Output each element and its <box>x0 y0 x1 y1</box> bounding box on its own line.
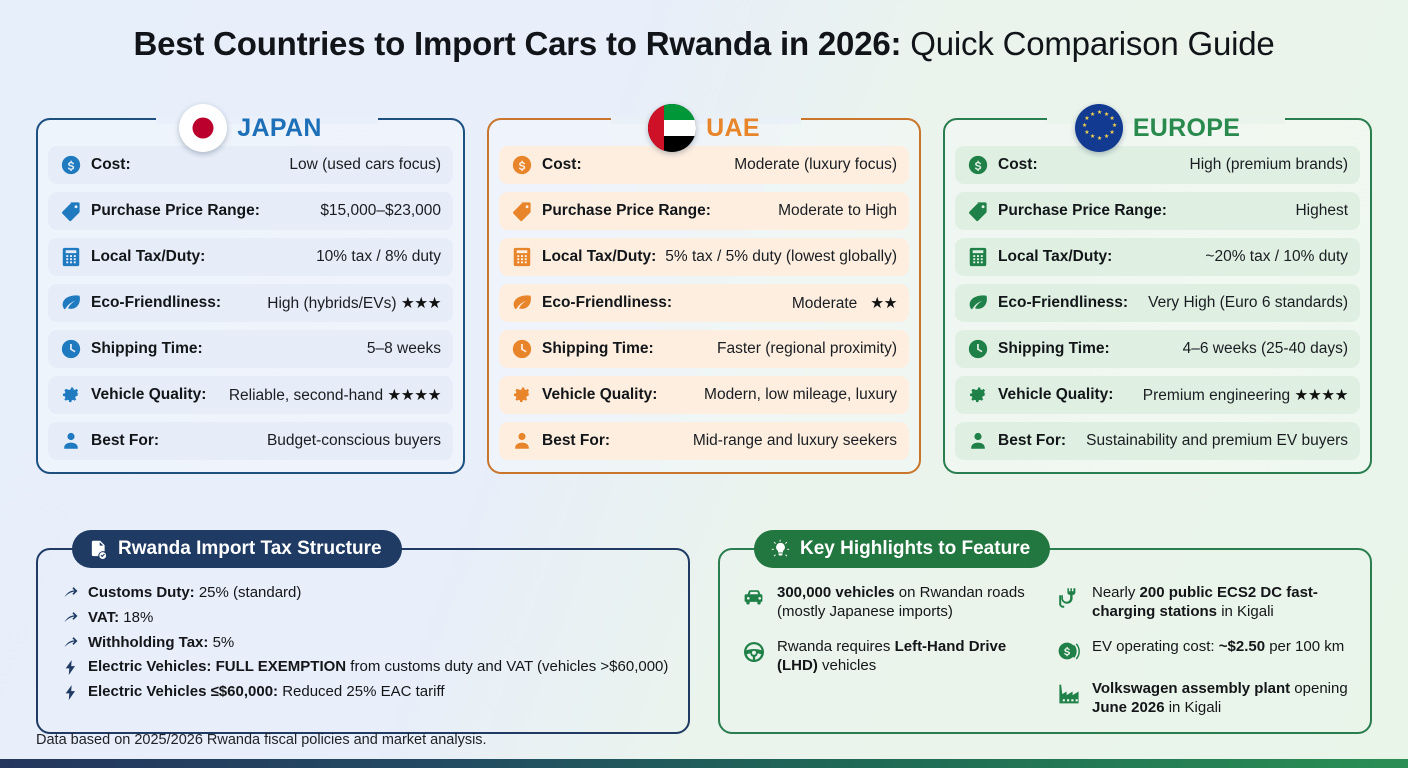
gear-icon <box>967 384 989 406</box>
row-label: Shipping Time: <box>91 340 203 358</box>
factory-icon <box>1057 682 1081 706</box>
country-column-uae: UAE Cost: Moderate (luxury focus) Purcha… <box>487 118 921 474</box>
row-value: Very High (Euro 6 standards) <box>1148 294 1348 312</box>
country-comparison-columns: JAPAN Cost: Low (used cars focus) Purcha… <box>0 118 1408 474</box>
key-panel-title: Key Highlights to Feature <box>800 538 1030 560</box>
leaf-icon <box>967 292 989 314</box>
table-row: Eco-Friendliness: Moderate ★★ <box>499 284 909 322</box>
list-item: Volkswagen assembly plant opening June 2… <box>1057 680 1354 718</box>
page-title: Best Countries to Import Cars to Rwanda … <box>0 26 1408 62</box>
row-value: Moderate (luxury focus) <box>734 156 897 174</box>
table-row: Eco-Friendliness: Very High (Euro 6 stan… <box>955 284 1360 322</box>
row-value: $15,000–$23,000 <box>320 202 441 220</box>
row-label: Best For: <box>91 432 159 450</box>
footer-note: Data based on 2025/2026 Rwanda fiscal po… <box>36 732 487 748</box>
tax-panel-title: Rwanda Import Tax Structure <box>118 538 382 560</box>
calculator-icon <box>60 246 82 268</box>
list-item: Electric Vehicles ≤$60,000: Reduced 25% … <box>62 683 672 702</box>
row-value: 5% tax / 5% duty (lowest globally) <box>665 248 897 266</box>
row-value: Highest <box>1295 202 1348 220</box>
row-label: Eco-Friendliness: <box>91 294 221 312</box>
list-item-text: Customs Duty: 25% (standard) <box>88 584 301 603</box>
row-label: Local Tax/Duty: <box>91 248 205 266</box>
row-value: Faster (regional proximity) <box>717 340 897 358</box>
arrow-icon <box>62 635 79 652</box>
europe-flag-icon: ★ ★ ★ ★ ★ ★ ★ ★ ★ ★ ★ ★ <box>1075 104 1123 152</box>
page-title-light: Quick Comparison Guide <box>901 25 1274 62</box>
table-row: Local Tax/Duty: ~20% tax / 10% duty <box>955 238 1360 276</box>
list-item-text: Volkswagen assembly plant opening June 2… <box>1092 680 1354 718</box>
key-highlights-left-column: 300,000 vehicles on Rwandan roads (mostl… <box>742 584 1039 718</box>
row-label: Purchase Price Range: <box>91 202 260 220</box>
price-tag-icon <box>967 200 989 222</box>
table-row: Shipping Time: 4–6 weeks (25-40 days) <box>955 330 1360 368</box>
row-label: Best For: <box>998 432 1066 450</box>
list-item-text: 300,000 vehicles on Rwandan roads (mostl… <box>777 584 1039 622</box>
list-item-text: Rwanda requires Left-Hand Drive (LHD) ve… <box>777 638 1039 676</box>
list-item-text: Electric Vehicles: FULL EXEMPTION from c… <box>88 658 668 677</box>
person-icon <box>60 430 82 452</box>
calculator-icon <box>967 246 989 268</box>
person-icon <box>511 430 533 452</box>
uae-flag-icon <box>648 104 696 152</box>
arrow-icon <box>62 610 79 627</box>
row-label: Local Tax/Duty: <box>542 248 656 266</box>
list-item-text: Nearly 200 public ECS2 DC fast-charging … <box>1092 584 1354 622</box>
ev-plug-icon <box>1057 586 1081 610</box>
table-row: Shipping Time: 5–8 weeks <box>48 330 453 368</box>
table-row: Shipping Time: Faster (regional proximit… <box>499 330 909 368</box>
country-column-europe: ★ ★ ★ ★ ★ ★ ★ ★ ★ ★ ★ ★ EUROPE <box>943 118 1372 474</box>
table-row: Purchase Price Range: Moderate to High <box>499 192 909 230</box>
key-panel-title-badge: Key Highlights to Feature <box>754 530 1050 568</box>
table-row: Best For: Budget-conscious buyers <box>48 422 453 460</box>
rwanda-tax-structure-panel: Rwanda Import Tax Structure Customs Duty… <box>36 548 690 734</box>
row-label: Vehicle Quality: <box>91 386 206 404</box>
list-item: Electric Vehicles: FULL EXEMPTION from c… <box>62 658 672 677</box>
page-title-bold: Best Countries to Import Cars to Rwanda … <box>133 25 901 62</box>
row-label: Vehicle Quality: <box>542 386 657 404</box>
list-item-text: EV operating cost: ~$2.50 per 100 km <box>1092 638 1344 657</box>
list-item: Customs Duty: 25% (standard) <box>62 584 672 603</box>
star-rating: ★★★ <box>401 295 441 312</box>
country-name-europe: EUROPE <box>1133 114 1240 143</box>
dollar-circle-icon <box>60 154 82 176</box>
tax-document-icon <box>88 539 109 560</box>
table-row: Vehicle Quality: Modern, low mileage, lu… <box>499 376 909 414</box>
row-label: Eco-Friendliness: <box>542 294 672 312</box>
row-value: Reliable, second-hand ★★★★ <box>229 386 441 405</box>
table-row: Best For: Mid-range and luxury seekers <box>499 422 909 460</box>
lightbulb-icon <box>770 539 791 560</box>
table-row: Local Tax/Duty: 10% tax / 8% duty <box>48 238 453 276</box>
table-row: Eco-Friendliness: High (hybrids/EVs) ★★★ <box>48 284 453 322</box>
country-card-uae: UAE Cost: Moderate (luxury focus) Purcha… <box>487 118 921 474</box>
country-card-europe: ★ ★ ★ ★ ★ ★ ★ ★ ★ ★ ★ ★ EUROPE <box>943 118 1372 474</box>
row-value: Mid-range and luxury seekers <box>693 432 897 450</box>
table-row: Best For: Sustainability and premium EV … <box>955 422 1360 460</box>
price-tag-icon <box>511 200 533 222</box>
row-label: Shipping Time: <box>998 340 1110 358</box>
row-label: Vehicle Quality: <box>998 386 1113 404</box>
tax-panel-title-badge: Rwanda Import Tax Structure <box>72 530 402 568</box>
bolt-icon <box>62 684 79 701</box>
row-value: High (premium brands) <box>1190 156 1349 174</box>
bottom-panels: Rwanda Import Tax Structure Customs Duty… <box>36 548 1372 734</box>
gear-icon <box>511 384 533 406</box>
steering-wheel-icon <box>742 640 766 664</box>
country-card-japan: JAPAN Cost: Low (used cars focus) Purcha… <box>36 118 465 474</box>
coin-dollar-icon <box>1057 640 1081 664</box>
list-item: Rwanda requires Left-Hand Drive (LHD) ve… <box>742 638 1039 676</box>
country-name-japan: JAPAN <box>237 114 321 143</box>
table-row: Purchase Price Range: Highest <box>955 192 1360 230</box>
row-label: Cost: <box>542 156 582 174</box>
footer-bar <box>0 759 1408 768</box>
price-tag-icon <box>60 200 82 222</box>
gear-icon <box>60 384 82 406</box>
row-value: Low (used cars focus) <box>289 156 441 174</box>
row-label: Cost: <box>998 156 1038 174</box>
country-header-europe: ★ ★ ★ ★ ★ ★ ★ ★ ★ ★ ★ ★ EUROPE <box>945 104 1370 152</box>
row-label: Best For: <box>542 432 610 450</box>
row-label: Local Tax/Duty: <box>998 248 1112 266</box>
arrow-icon <box>62 585 79 602</box>
clock-icon <box>60 338 82 360</box>
row-value: Moderate ★★ <box>792 294 897 313</box>
person-icon <box>967 430 989 452</box>
key-highlights-panel: Key Highlights to Feature 300,000 vehicl… <box>718 548 1372 734</box>
row-value: Moderate to High <box>778 202 897 220</box>
key-highlights-right-column: Nearly 200 public ECS2 DC fast-charging … <box>1057 584 1354 718</box>
list-item: 300,000 vehicles on Rwandan roads (mostl… <box>742 584 1039 622</box>
dollar-circle-icon <box>967 154 989 176</box>
title-area: Best Countries to Import Cars to Rwanda … <box>0 0 1408 62</box>
row-label: Purchase Price Range: <box>998 202 1167 220</box>
clock-icon <box>967 338 989 360</box>
table-row: Vehicle Quality: Premium engineering ★★★… <box>955 376 1360 414</box>
row-label: Shipping Time: <box>542 340 654 358</box>
key-highlights-grid: 300,000 vehicles on Rwandan roads (mostl… <box>736 584 1354 718</box>
row-value: Modern, low mileage, luxury <box>704 386 897 404</box>
leaf-icon <box>511 292 533 314</box>
row-label: Purchase Price Range: <box>542 202 711 220</box>
table-row: Local Tax/Duty: 5% tax / 5% duty (lowest… <box>499 238 909 276</box>
list-item-text: Withholding Tax: 5% <box>88 634 234 653</box>
dollar-circle-icon <box>511 154 533 176</box>
row-label: Eco-Friendliness: <box>998 294 1128 312</box>
bolt-icon <box>62 659 79 676</box>
infographic-page: Best Countries to Import Cars to Rwanda … <box>0 0 1408 768</box>
list-item: VAT: 18% <box>62 609 672 628</box>
star-rating: ★★★★ <box>387 387 441 404</box>
country-header-uae: UAE <box>489 104 919 152</box>
tax-item-list: Customs Duty: 25% (standard) VAT: 18% Wi… <box>54 584 672 702</box>
country-header-japan: JAPAN <box>38 104 463 152</box>
table-row: Vehicle Quality: Reliable, second-hand ★… <box>48 376 453 414</box>
row-label: Cost: <box>91 156 131 174</box>
list-item-text: Electric Vehicles ≤$60,000: Reduced 25% … <box>88 683 445 702</box>
row-value: Sustainability and premium EV buyers <box>1086 432 1348 450</box>
list-item-text: VAT: 18% <box>88 609 153 628</box>
list-item: Withholding Tax: 5% <box>62 634 672 653</box>
country-name-uae: UAE <box>706 114 760 143</box>
country-column-japan: JAPAN Cost: Low (used cars focus) Purcha… <box>36 118 465 474</box>
clock-icon <box>511 338 533 360</box>
row-value: 4–6 weeks (25-40 days) <box>1183 340 1348 358</box>
row-value: Premium engineering ★★★★ <box>1143 386 1348 405</box>
japan-flag-icon <box>179 104 227 152</box>
list-item: Nearly 200 public ECS2 DC fast-charging … <box>1057 584 1354 622</box>
leaf-icon <box>60 292 82 314</box>
row-value: Budget-conscious buyers <box>267 432 441 450</box>
table-row: Purchase Price Range: $15,000–$23,000 <box>48 192 453 230</box>
star-rating: ★★ <box>870 295 897 312</box>
row-value: 5–8 weeks <box>367 340 441 358</box>
list-item: EV operating cost: ~$2.50 per 100 km <box>1057 638 1354 664</box>
row-value: ~20% tax / 10% duty <box>1205 248 1348 266</box>
calculator-icon <box>511 246 533 268</box>
row-value: High (hybrids/EVs) ★★★ <box>267 294 441 313</box>
row-value: 10% tax / 8% duty <box>316 248 441 266</box>
star-rating: ★★★★ <box>1294 387 1348 404</box>
car-icon <box>742 586 766 610</box>
